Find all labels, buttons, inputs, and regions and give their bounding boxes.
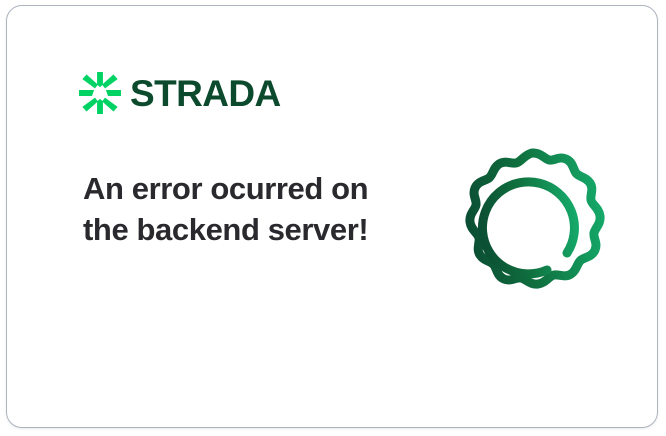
brand-name: STRADA <box>130 75 281 112</box>
brand-logo: STRADA <box>79 72 281 114</box>
strada-asterisk-icon <box>79 72 121 114</box>
gear-icon <box>451 140 615 314</box>
error-card: STRADA An error ocurred on the backend s… <box>6 5 658 428</box>
error-message: An error ocurred on the backend server! <box>83 169 383 251</box>
